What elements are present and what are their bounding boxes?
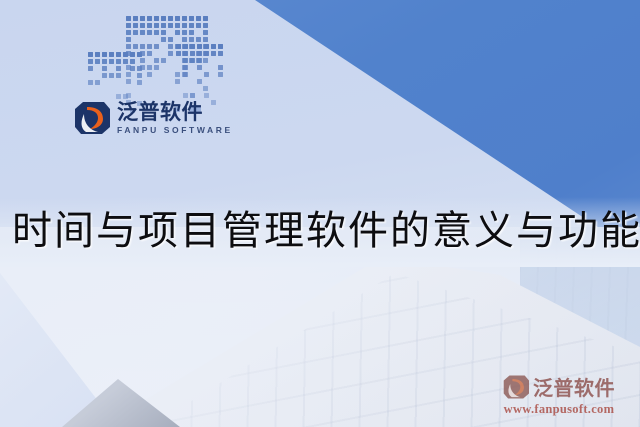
banner-headline: 时间与项目管理软件的意义与功能 bbox=[12, 198, 628, 256]
fanpu-watermark: 泛普软件 www.fanpusoft.com bbox=[486, 372, 632, 417]
fanpu-watermark-logo-icon bbox=[503, 374, 529, 400]
logo-name-cn: 泛普软件 bbox=[117, 102, 233, 123]
logo-text-block: 泛普软件 FANPU SOFTWARE bbox=[117, 102, 233, 135]
fanpu-hexagon-swoosh-logo-icon bbox=[74, 100, 110, 136]
fanpu-logo: 泛普软件 FANPU SOFTWARE bbox=[74, 96, 210, 140]
logo-name-en: FANPU SOFTWARE bbox=[117, 126, 233, 135]
watermark-url: www.fanpusoft.com bbox=[486, 402, 632, 417]
watermark-logo-row: 泛普软件 bbox=[486, 372, 632, 401]
pixel-city-skyline-icon bbox=[88, 4, 216, 96]
marketing-banner: 泛普软件 FANPU SOFTWARE 时间与项目管理软件的意义与功能 泛普软件… bbox=[0, 0, 640, 427]
watermark-name-cn: 泛普软件 bbox=[533, 372, 615, 401]
